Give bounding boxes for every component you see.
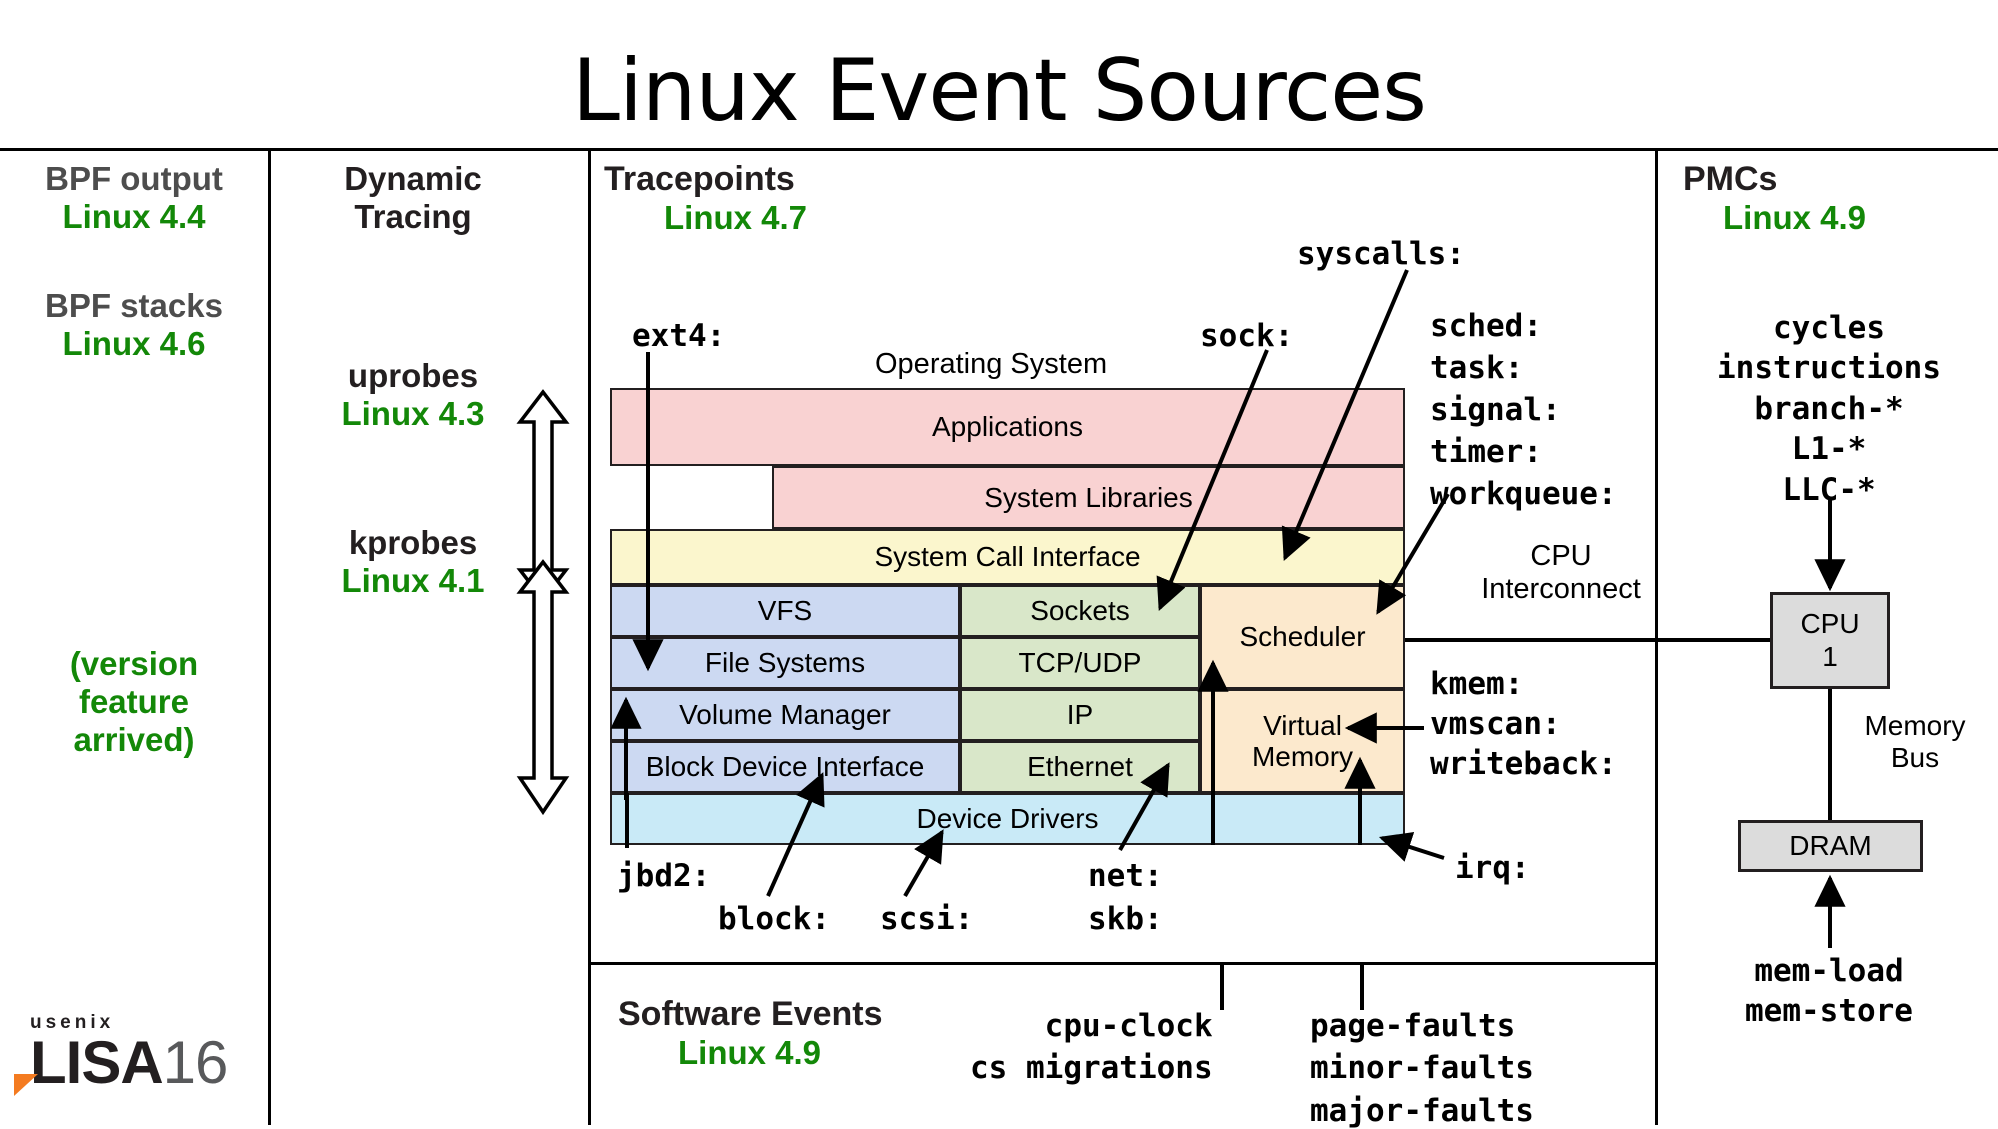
version-note-line-3: arrived): [0, 721, 268, 759]
col-divider-2: [588, 148, 591, 1125]
bpf-stacks-group: BPF stacks Linux 4.6: [0, 287, 268, 363]
tracepoints-column: Tracepoints Linux 4.7: [604, 160, 807, 237]
virtual-memory-line-1: Virtual: [1263, 710, 1342, 741]
os-block-ethernet: Ethernet: [960, 741, 1200, 793]
uprobes-group: uprobes Linux 4.3: [268, 357, 558, 433]
os-block-vfs: VFS: [610, 585, 960, 637]
os-block-device-drivers: Device Drivers: [610, 793, 1405, 845]
sw-event-cs-migrations: cs migrations: [970, 1052, 1213, 1085]
virtual-memory-line-2: Memory: [1252, 741, 1353, 772]
kprobes-version: Linux 4.1: [268, 562, 558, 600]
lisa-text: LISA: [30, 1029, 163, 1096]
probe-label-sched: sched:: [1430, 310, 1542, 343]
dynamic-tracing-header: Dynamic Tracing: [268, 160, 558, 236]
hardware-block-cpu: CPU 1: [1770, 592, 1890, 689]
kprobes-label: kprobes: [268, 524, 558, 562]
pmc-counter-l1: L1-*: [1660, 433, 1998, 466]
hardware-block-dram: DRAM: [1738, 820, 1923, 872]
cpu-interconnect-line-1: CPU: [1466, 540, 1656, 573]
kprobes-group: kprobes Linux 4.1: [268, 524, 558, 600]
tracepoints-header: Tracepoints: [604, 160, 807, 199]
probe-label-workqueue: workqueue:: [1430, 478, 1617, 511]
uprobes-label: uprobes: [268, 357, 558, 395]
probe-label-vmscan: vmscan:: [1430, 708, 1561, 741]
dynamic-tracing-header-line-1: Dynamic: [268, 160, 558, 198]
os-block-virtual-memory: Virtual Memory: [1200, 689, 1405, 793]
logo-orange-tick-icon: [14, 1074, 38, 1096]
pmcs-header: PMCs: [1683, 160, 1866, 199]
col-divider-1: [268, 148, 271, 1125]
bpf-output-label: BPF output: [0, 160, 268, 198]
os-block-file-systems: File Systems: [610, 637, 960, 689]
tracepoints-version: Linux 4.7: [664, 199, 807, 237]
cpu-label: CPU: [1800, 608, 1859, 640]
cpu-number: 1: [1822, 641, 1838, 673]
os-block-system-libraries: System Libraries: [772, 466, 1405, 529]
software-events-divider: [588, 962, 1655, 965]
os-block-applications: Applications: [610, 388, 1405, 466]
sw-event-cpu-clock: cpu-clock: [970, 1010, 1213, 1043]
pmc-counter-branch: branch-*: [1660, 393, 1998, 426]
frame-top-rule: [0, 148, 1998, 151]
bpf-output-version: Linux 4.4: [0, 198, 268, 236]
pmc-event-mem-load: mem-load: [1660, 955, 1998, 988]
os-block-volume-manager: Volume Manager: [610, 689, 960, 741]
os-block-sockets: Sockets: [960, 585, 1200, 637]
software-events-group-b: page-faults minor-faults major-faults: [1310, 1010, 1534, 1128]
pmc-counter-list: cycles instructions branch-* L1-* LLC-*: [1660, 312, 1998, 507]
pmc-event-mem-store: mem-store: [1660, 995, 1998, 1028]
operating-system-caption: Operating System: [875, 348, 1107, 381]
pmc-counter-llc: LLC-*: [1660, 474, 1998, 507]
probe-label-syscalls: syscalls:: [1297, 238, 1465, 271]
probe-label-block: block:: [718, 903, 830, 936]
os-block-scheduler: Scheduler: [1200, 585, 1405, 689]
dynamic-tracing-header-line-2: Tracing: [268, 198, 558, 236]
probe-label-signal: signal:: [1430, 394, 1561, 427]
pmcs-version: Linux 4.9: [1723, 199, 1866, 237]
probe-label-irq: irq:: [1455, 852, 1530, 885]
software-events-column: Software Events Linux 4.9: [618, 995, 883, 1072]
slide-root: Linux Event Sources BPF output Linux 4.4…: [0, 0, 1998, 1125]
cpu-interconnect-label: CPU Interconnect: [1466, 540, 1656, 607]
probe-label-jbd2: jbd2:: [617, 860, 710, 893]
sw-event-minor-faults: minor-faults: [1310, 1052, 1534, 1085]
pmcs-column: PMCs Linux 4.9: [1683, 160, 1866, 237]
pmc-memory-events: mem-load mem-store: [1660, 955, 1998, 1029]
lisa-year: 16: [163, 1029, 228, 1096]
version-note-line-2: feature: [0, 683, 268, 721]
probe-label-ext4: ext4:: [632, 320, 725, 353]
probe-label-sock: sock:: [1200, 320, 1293, 353]
cpu-interconnect-line-2: Interconnect: [1466, 573, 1656, 606]
software-events-header: Software Events: [618, 995, 883, 1034]
probe-label-scsi: scsi:: [880, 903, 973, 936]
probe-label-task: task:: [1430, 352, 1523, 385]
probe-label-kmem: kmem:: [1430, 668, 1523, 701]
pmc-counter-instructions: instructions: [1660, 352, 1998, 385]
memory-bus-label: Memory Bus: [1820, 710, 1998, 774]
probe-label-timer: timer:: [1430, 436, 1542, 469]
probe-label-net: net:: [1088, 860, 1163, 893]
os-block-block-device-interface: Block Device Interface: [610, 741, 960, 793]
pmc-counter-cycles: cycles: [1660, 312, 1998, 345]
os-block-tcp-udp: TCP/UDP: [960, 637, 1200, 689]
col-divider-3: [1655, 148, 1658, 1125]
bpf-stacks-version: Linux 4.6: [0, 325, 268, 363]
probe-label-skb: skb:: [1088, 903, 1163, 936]
uprobes-version: Linux 4.3: [268, 395, 558, 433]
os-block-ip: IP: [960, 689, 1200, 741]
lisa-wordmark: LISA16: [30, 1034, 227, 1091]
page-title: Linux Event Sources: [0, 48, 1998, 134]
lisa-logo: usenix LISA16: [30, 1012, 227, 1091]
version-note-line-1: (version: [0, 645, 268, 683]
memory-bus-line-1: Memory: [1820, 710, 1998, 742]
bpf-output-group: BPF output Linux 4.4: [0, 160, 268, 236]
software-events-version: Linux 4.9: [678, 1034, 883, 1072]
bpf-stacks-label: BPF stacks: [0, 287, 268, 325]
memory-bus-line-2: Bus: [1820, 742, 1998, 774]
os-block-system-call-interface: System Call Interface: [610, 529, 1405, 585]
sw-event-major-faults: major-faults: [1310, 1095, 1534, 1128]
version-note: (version feature arrived): [0, 645, 268, 759]
sw-event-page-faults: page-faults: [1310, 1010, 1534, 1043]
probe-label-writeback: writeback:: [1430, 748, 1617, 781]
software-events-group-a: cpu-clock cs migrations: [970, 1010, 1213, 1086]
